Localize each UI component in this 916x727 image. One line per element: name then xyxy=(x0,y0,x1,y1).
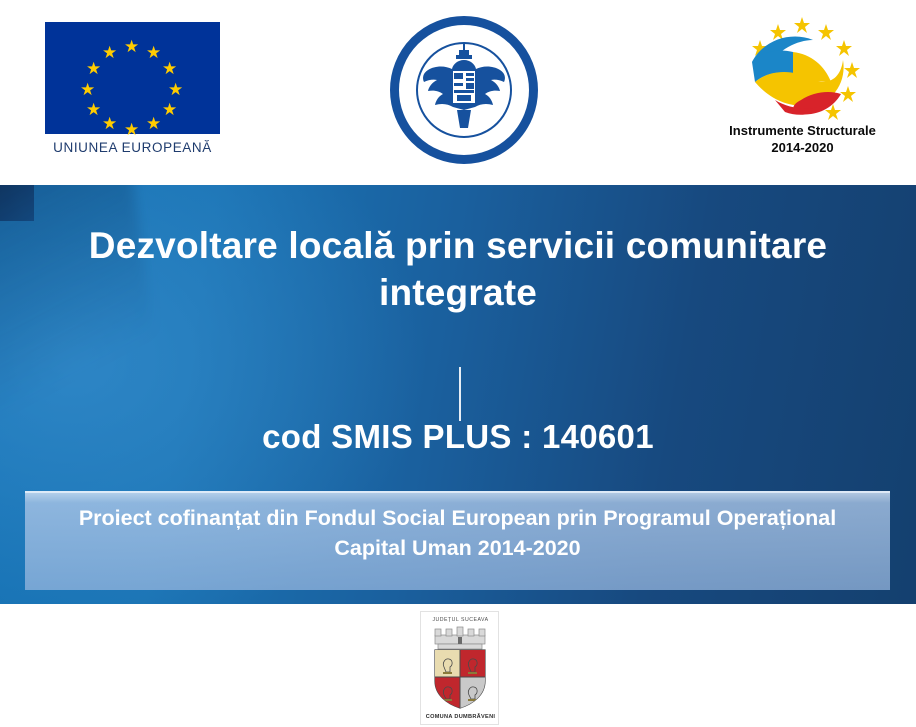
eagle-icon xyxy=(421,44,507,136)
slide-canvas: ★ ★ ★ ★ ★ ★ ★ ★ ★ ★ ★ ★ UNIUNEA EUROPEAN… xyxy=(0,0,916,727)
footer-strip: JUDEȚUL SUCEAVA xyxy=(0,604,916,727)
structural-caption-line1: Instrumente Structurale xyxy=(705,122,900,139)
cofinance-text: Proiect cofinanțat din Fondul Social Eur… xyxy=(25,503,890,563)
structural-instruments-icon xyxy=(705,14,900,122)
cofinance-line-2: Capital Uman 2014-2020 xyxy=(25,533,890,563)
smis-code-label: cod SMIS PLUS : 140601 xyxy=(56,418,860,456)
eu-logo-caption: UNIUNEA EUROPEANĂ xyxy=(45,140,220,155)
coat-of-arms-shield xyxy=(429,625,491,711)
text-cursor xyxy=(459,367,461,421)
structural-instruments-logo: Instrumente Structurale 2014-2020 xyxy=(705,14,900,174)
eu-logo: ★ ★ ★ ★ ★ ★ ★ ★ ★ ★ ★ ★ UNIUNEA EUROPEAN… xyxy=(45,22,230,162)
structural-instruments-caption: Instrumente Structurale 2014-2020 xyxy=(705,122,900,156)
coat-of-arms-top-text: JUDEȚUL SUCEAVA xyxy=(421,617,500,623)
structural-caption-line2: 2014-2020 xyxy=(705,139,900,156)
gov-logo: GUVERNUL ROMÂNIEI xyxy=(390,16,540,166)
coat-of-arms-icon: JUDEȚUL SUCEAVA xyxy=(420,611,499,725)
cofinance-line-1: Proiect cofinanțat din Fondul Social Eur… xyxy=(25,503,890,533)
header-logo-strip: ★ ★ ★ ★ ★ ★ ★ ★ ★ ★ ★ ★ UNIUNEA EUROPEAN… xyxy=(0,0,916,185)
page-title: Dezvoltare locală prin servicii comunita… xyxy=(56,222,860,316)
coat-of-arms-bottom-text: COMUNA DUMBRĂVENI xyxy=(421,714,500,720)
romanian-government-seal-icon: GUVERNUL ROMÂNIEI xyxy=(390,16,538,164)
eu-flag-icon: ★ ★ ★ ★ ★ ★ ★ ★ ★ ★ ★ ★ xyxy=(45,22,220,134)
